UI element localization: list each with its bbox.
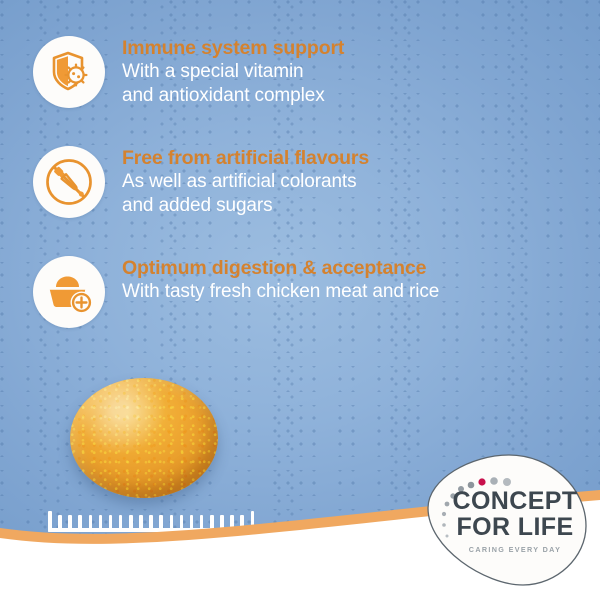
feature-text-block: Immune system support With a special vit… [122,36,344,108]
kibble-surface-texture [70,378,218,498]
feature-body-line-2: and added sugars [122,194,369,218]
shield-virus-icon [33,36,105,108]
feature-title: Optimum digestion & acceptance [122,257,439,280]
kibble-product-image [70,378,218,498]
food-bowl-plus-icon [33,256,105,328]
feature-text-block: Optimum digestion & acceptance With tast… [122,256,439,304]
feature-item-optimum-digestion: Optimum digestion & acceptance With tast… [33,256,439,328]
feature-item-immune-support: Immune system support With a special vit… [33,36,344,108]
feature-body-line-1: With a special vitamin [122,60,344,84]
feature-title: Immune system support [122,37,344,60]
feature-text-block: Free from artificial flavours As well as… [122,146,369,218]
no-dropper-icon [33,146,105,218]
product-feature-poster: Immune system support With a special vit… [0,0,600,600]
feature-title: Free from artificial flavours [122,147,369,170]
feature-item-no-artificial-flavours: Free from artificial flavours As well as… [33,146,369,218]
feature-body-line-1: As well as artificial colorants [122,170,369,194]
brand-logo: CONCEPT FOR LIFE CARING EVERY DAY [423,452,591,590]
feature-body-line-2: and antioxidant complex [122,84,344,108]
feature-body-line-1: With tasty fresh chicken meat and rice [122,280,439,304]
